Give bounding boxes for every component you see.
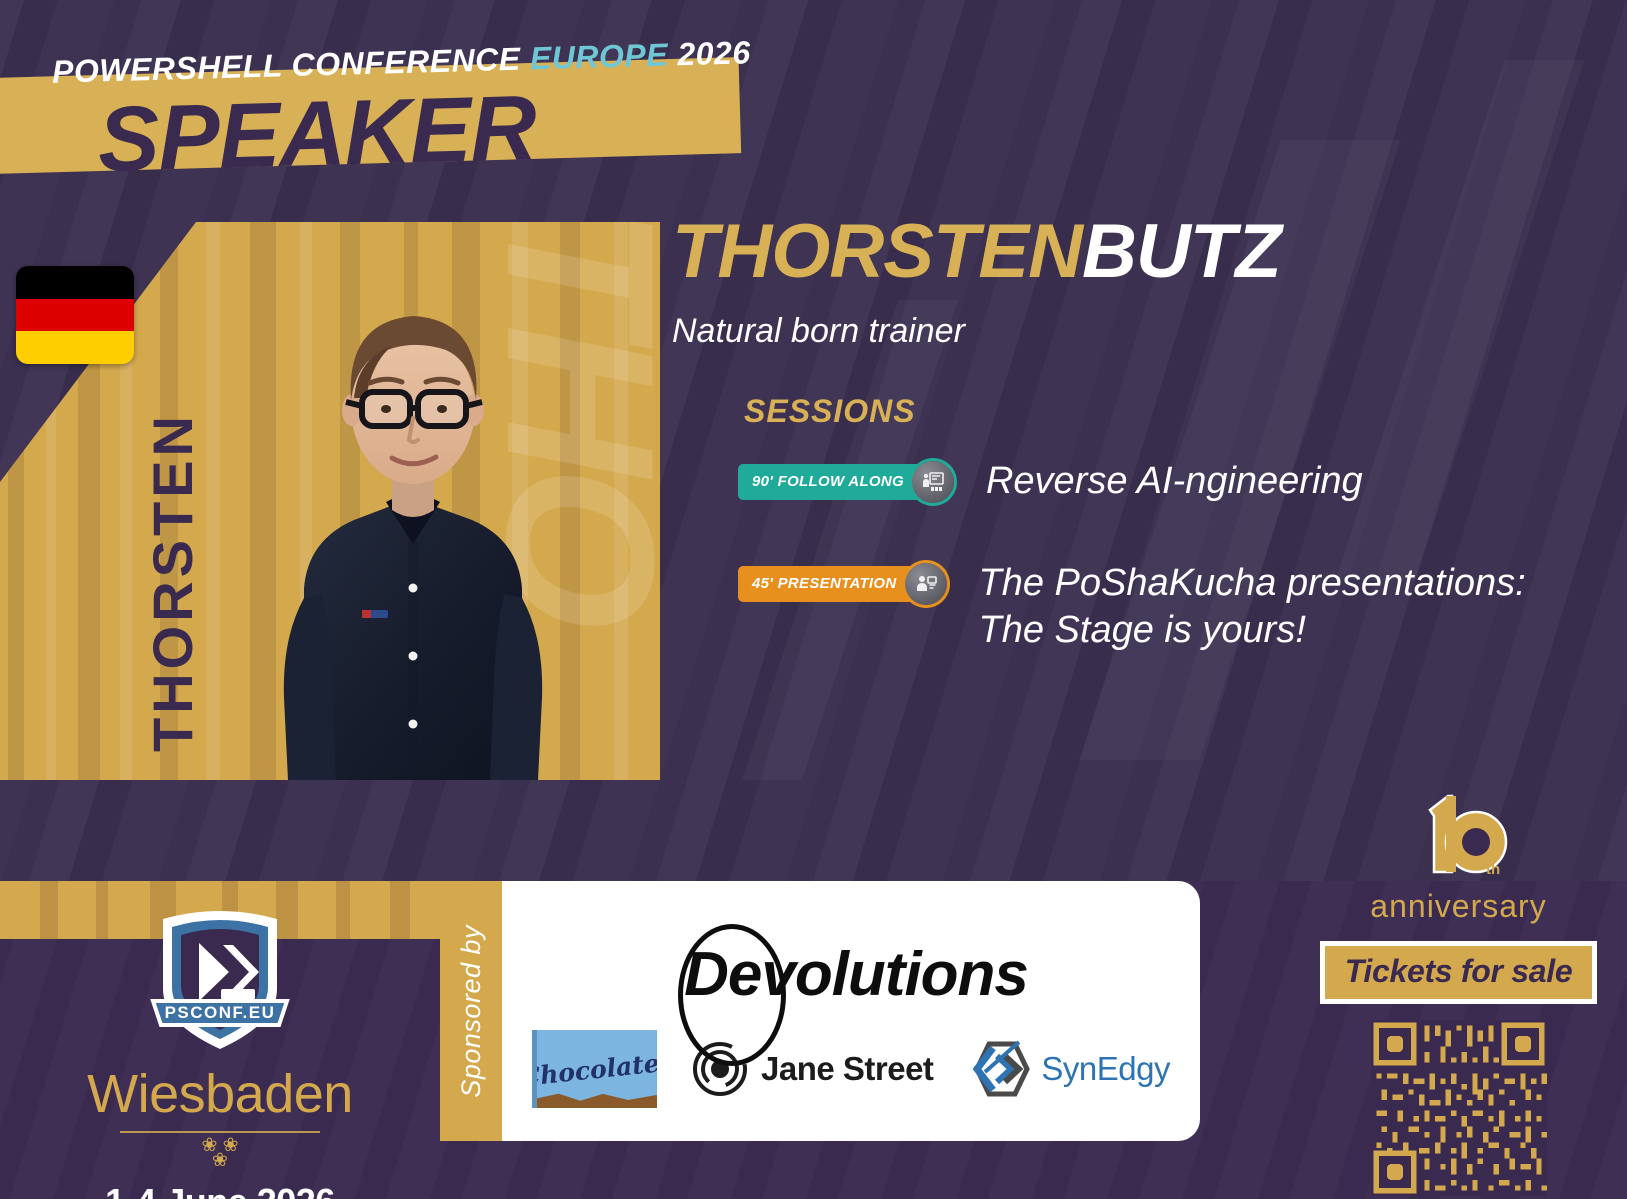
- session-badge: 90' FOLLOW ALONG: [738, 464, 950, 500]
- synedgy-mark: [967, 1038, 1033, 1100]
- sponsor-logo-synedgy: SynEdgy: [967, 1038, 1170, 1100]
- speaker-card: POWERSHELL CONFERENCE EUROPE 2026 SPEAKE…: [0, 0, 1627, 1199]
- session-title: Reverse AI-ngineering: [986, 458, 1363, 506]
- sponsored-by-strip: Sponsored by: [440, 881, 502, 1141]
- sponsored-by-label: Sponsored by: [456, 925, 487, 1098]
- anniversary-ordinal: th: [1486, 861, 1500, 878]
- speaker-last-name: BUTZ: [1082, 209, 1281, 294]
- speaker-name: THORSTENBUTZ: [672, 214, 1602, 290]
- session-item: 90' FOLLOW ALONG Reverse AI-ngineering: [738, 458, 1602, 506]
- city-rule: [120, 1131, 320, 1133]
- anniversary-logo: th: [1290, 786, 1627, 882]
- follow-along-icon: [912, 461, 954, 503]
- chocolatey-label: Chocolatey: [532, 1047, 657, 1092]
- sessions-heading: SESSIONS: [744, 393, 1602, 430]
- session-title: The PoShaKucha presentations: The Stage …: [979, 560, 1599, 655]
- footer: PSCONF.EU Wiesbaden ❀ ❀❀ 1-4 June 2026: [0, 881, 1627, 1199]
- secondary-sponsors: Chocolatey Jane Street: [532, 1030, 1170, 1108]
- session-badge: 45' PRESENTATION: [738, 566, 943, 602]
- conference-dates: 1-4 June 2026: [0, 1181, 440, 1199]
- presentation-icon: [905, 563, 947, 605]
- speaker-role-label: SPEAKER: [97, 76, 538, 193]
- jane-street-label: Jane Street: [761, 1050, 933, 1088]
- session-item: 45' PRESENTATION The PoShaKucha presenta…: [738, 560, 1602, 655]
- germany-flag-icon: [16, 266, 134, 364]
- synedgy-label: SynEdgy: [1041, 1050, 1170, 1088]
- conference-title-year: 2026: [668, 34, 752, 72]
- speaker-info: THORSTENBUTZ Natural born trainer SESSIO…: [672, 214, 1602, 655]
- tickets-for-sale-button[interactable]: Tickets for sale: [1320, 941, 1598, 1004]
- photo-panel: THO THORSTEN: [0, 222, 660, 780]
- fleur-de-lis-ornament: ❀ ❀❀: [0, 1137, 440, 1169]
- sponsor-logo-chocolatey: Chocolatey: [532, 1030, 657, 1108]
- brand-block: PSCONF.EU Wiesbaden ❀ ❀❀ 1-4 June 2026: [0, 939, 440, 1199]
- sponsor-logo-devolutions: Devolutions: [674, 920, 1028, 1028]
- speaker-photo: [196, 258, 626, 780]
- anniversary-label: anniversary: [1290, 888, 1627, 925]
- speaker-first-name: THORSTEN: [672, 209, 1082, 294]
- anniversary-and-tickets: th anniversary Tickets for sale: [1290, 786, 1627, 1199]
- conference-title-europe: EUROPE: [529, 37, 668, 77]
- psconf-logo: PSCONF.EU: [145, 897, 295, 1057]
- psconf-logo-text: PSCONF.EU: [165, 1003, 276, 1022]
- city-name: Wiesbaden: [0, 1063, 440, 1125]
- sponsors-panel: Sponsored by Devolutions Chocolatey: [440, 881, 1200, 1141]
- speaker-tagline: Natural born trainer: [672, 312, 1602, 351]
- sponsor-logos: Devolutions Chocolatey Jane Street: [502, 881, 1200, 1141]
- qr-code[interactable]: [1371, 1020, 1547, 1196]
- chocolatey-base: [537, 1092, 657, 1108]
- devolutions-label: Devolutions: [674, 939, 1028, 1010]
